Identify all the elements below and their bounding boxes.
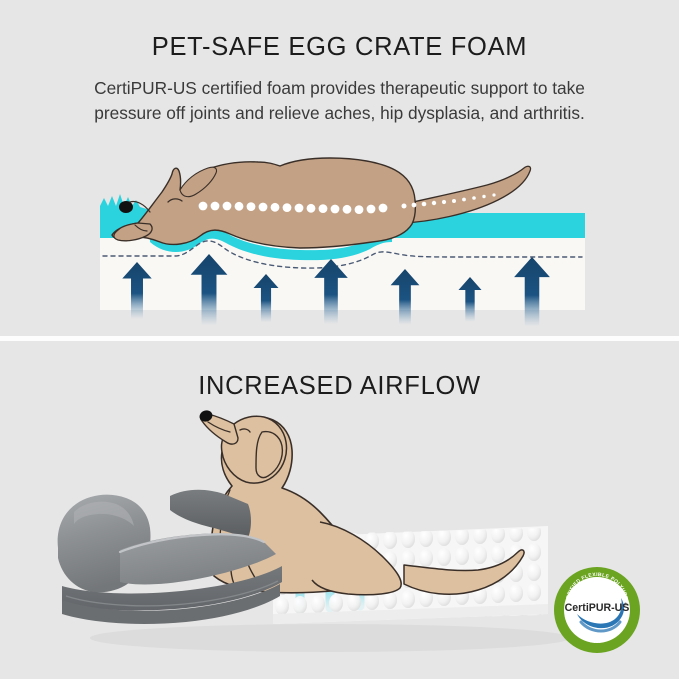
infographic-page: PET-SAFE EGG CRATE FOAM CertiPUR-US cert… [0,0,679,679]
panel-top-subcopy-line-2: pressure off joints and relieve aches, h… [0,101,679,126]
panel-pet-safe-egg-crate-foam: PET-SAFE EGG CRATE FOAM CertiPUR-US cert… [0,0,679,338]
bed-ground-shadow [90,624,570,652]
bolster-bed [58,490,282,624]
illustration-dog-on-bolster-bed: CONTAINS CERTIFIED FLEXIBLE POLYURETHANE… [0,400,679,679]
panel-top-subcopy: CertiPUR-US certified foam provides ther… [0,76,679,126]
illustration-dog-on-foam-cross-section [0,130,679,330]
panel-increased-airflow: INCREASED AIRFLOW [0,341,679,679]
panel-top-subcopy-line-1: CertiPUR-US certified foam provides ther… [0,76,679,101]
panel-bottom-heading: INCREASED AIRFLOW [0,372,679,401]
certipur-us-badge: CONTAINS CERTIFIED FLEXIBLE POLYURETHANE… [554,567,640,653]
panel-top-heading: PET-SAFE EGG CRATE FOAM [0,33,679,62]
badge-brand-text: CertiPUR-US [565,602,630,614]
dog-nose [119,201,133,213]
